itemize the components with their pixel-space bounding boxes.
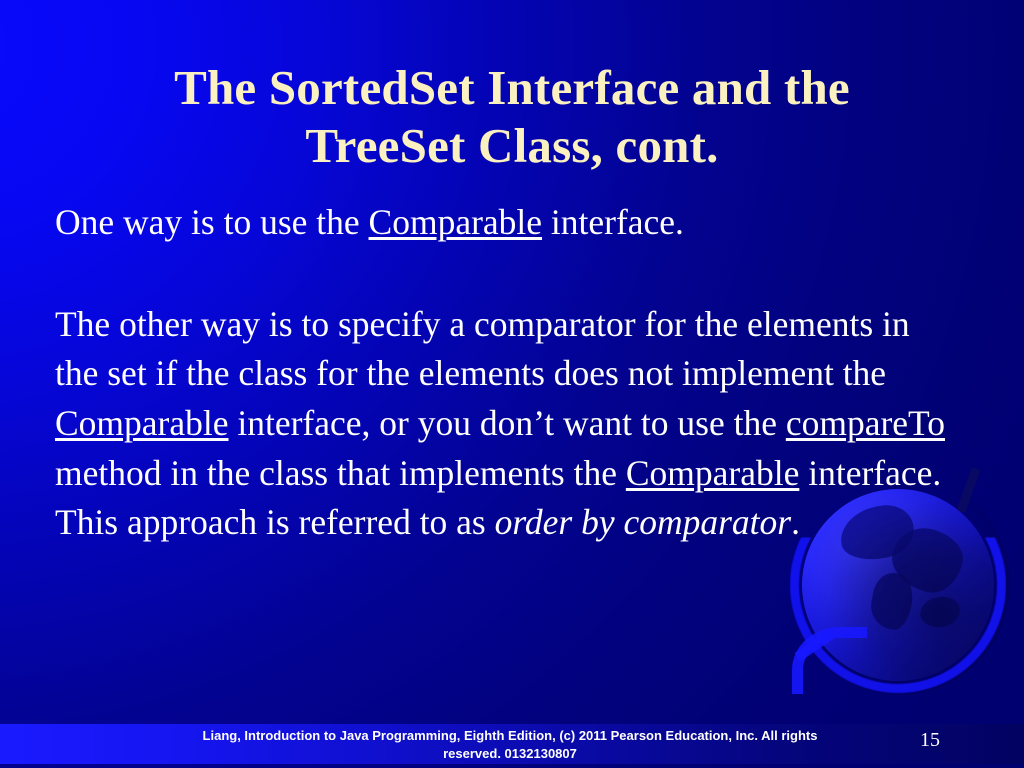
paragraph-2-segment-2: interface, or you don’t want to use the	[229, 403, 786, 443]
body-paragraph-2: The other way is to specify a comparator…	[55, 300, 957, 548]
paragraph-2-segment-3: method in the class that implements the	[55, 453, 626, 493]
paragraph-1-text-before: One way is to use the	[55, 202, 369, 242]
slide-title-line-1: The SortedSet Interface and the	[60, 59, 964, 117]
paragraph-2-segment-1: The other way is to specify a comparator…	[55, 304, 910, 394]
compareto-term: compareTo	[786, 403, 945, 443]
slide-title: The SortedSet Interface and the TreeSet …	[60, 59, 964, 175]
comparable-term-3: Comparable	[626, 453, 800, 493]
paragraph-2-segment-5: .	[791, 502, 800, 542]
slide-canvas: The SortedSet Interface and the TreeSet …	[0, 0, 1024, 768]
paragraph-spacer	[55, 248, 957, 300]
page-number: 15	[900, 729, 960, 752]
footer-credit: Liang, Introduction to Java Programming,…	[180, 727, 840, 762]
comparable-term-1: Comparable	[369, 202, 543, 242]
body-paragraph-1: One way is to use the Comparable interfa…	[55, 198, 957, 248]
comparable-term-2: Comparable	[55, 403, 229, 443]
paragraph-1-text-after: interface.	[542, 202, 684, 242]
slide-body: One way is to use the Comparable interfa…	[55, 198, 957, 548]
order-by-comparator-term: order by comparator	[495, 502, 791, 542]
slide-title-line-2: TreeSet Class, cont.	[60, 117, 964, 175]
